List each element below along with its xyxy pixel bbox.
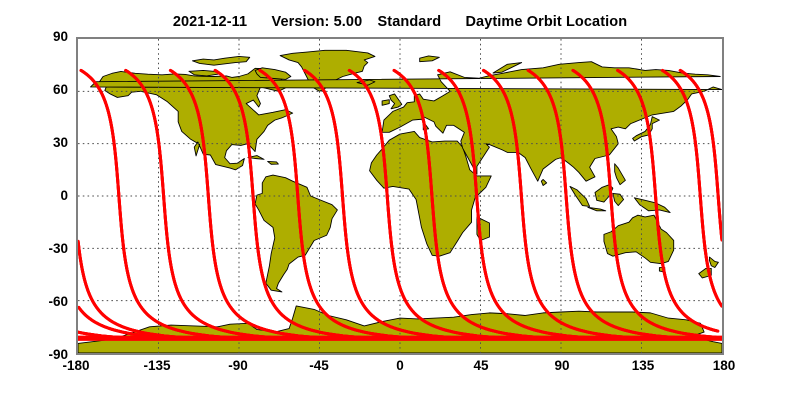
- y-tick-label: -60: [10, 295, 68, 309]
- axis-labels: 90 60 30 0 -30 -60 -90 -180 -135 -90 -45…: [0, 0, 800, 400]
- y-tick-label: 0: [10, 189, 68, 203]
- y-tick-label: 90: [10, 30, 68, 44]
- y-tick-label: 60: [10, 83, 68, 97]
- x-tick-label: 90: [527, 359, 597, 373]
- y-tick-label: -30: [10, 242, 68, 256]
- x-tick-label: 135: [608, 359, 678, 373]
- x-tick-label: 0: [365, 359, 435, 373]
- x-tick-label: -135: [122, 359, 192, 373]
- x-tick-label: 45: [446, 359, 516, 373]
- x-tick-label: -90: [203, 359, 273, 373]
- y-tick-label: 30: [10, 136, 68, 150]
- orbit-location-plot: 2021-12-11 Version: 5.00 Standard Daytim…: [0, 0, 800, 400]
- x-tick-label: 180: [689, 359, 759, 373]
- x-tick-label: -45: [284, 359, 354, 373]
- x-tick-label: -180: [41, 359, 111, 373]
